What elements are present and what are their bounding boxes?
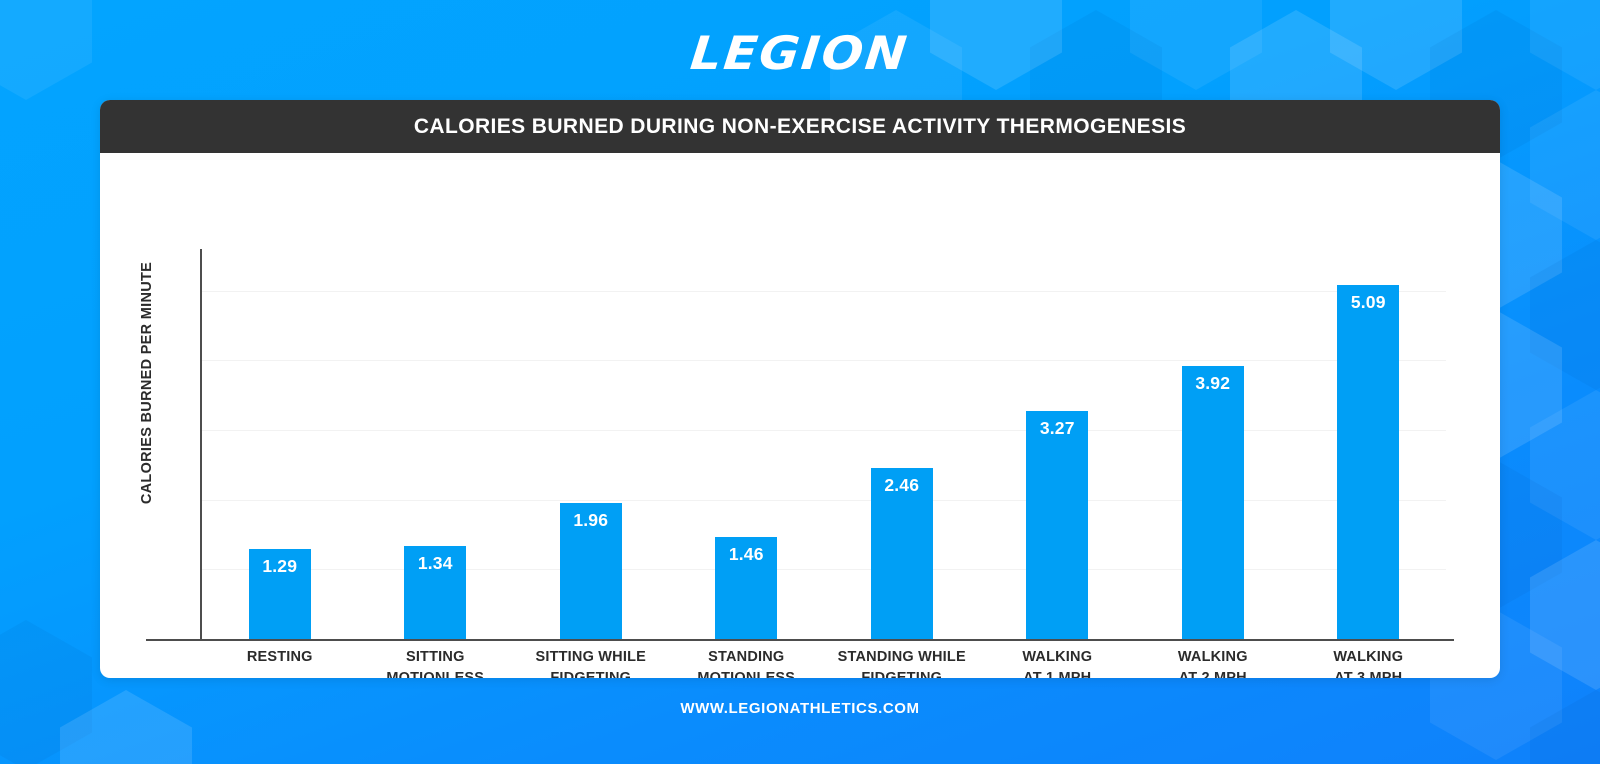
bar[interactable]: 1.46 [715,537,777,639]
footer-url[interactable]: WWW.LEGIONATHLETICS.COM [680,700,919,717]
chart-header-bar: CALORIES BURNED DURING NON-EXERCISE ACTI… [100,100,1500,153]
bar-slot: 1.96 [513,249,669,639]
bar[interactable]: 1.96 [560,503,622,640]
bar-slot: 1.29 [202,249,358,639]
footer: WWW.LEGIONATHLETICS.COM [0,700,1600,718]
bar-slot: 3.92 [1135,249,1291,639]
bar[interactable]: 1.34 [404,546,466,639]
x-axis-line [146,639,1454,641]
bar-value-label: 1.96 [573,510,608,531]
bar-slot: 2.46 [824,249,980,639]
plot-area: 1.291.341.961.462.463.273.925.09 RESTING… [146,153,1454,678]
bar-slot: 3.27 [980,249,1136,639]
bar[interactable]: 2.46 [871,468,933,639]
bar-value-label: 3.27 [1040,418,1075,439]
chart-title: CALORIES BURNED DURING NON-EXERCISE ACTI… [414,115,1186,139]
bar-slot: 1.46 [669,249,825,639]
bar-value-label: 2.46 [884,475,919,496]
bar-value-label: 1.46 [729,544,764,565]
bar-slot: 5.09 [1291,249,1447,639]
bar[interactable]: 3.27 [1026,411,1088,639]
infographic-poster: LEGION CALORIES BURNED DURING NON-EXERCI… [0,0,1600,764]
bar[interactable]: 3.92 [1182,366,1244,639]
chart-card: CALORIES BURNED DURING NON-EXERCISE ACTI… [100,100,1500,678]
bar-value-label: 1.34 [418,553,453,574]
bar-value-label: 1.29 [262,556,297,577]
x-axis-tick-label: RESTING [202,647,358,678]
x-axis-category-labels: RESTINGSITTINGMOTIONLESSSITTING WHILEFID… [202,647,1446,678]
bar-value-label: 5.09 [1351,292,1386,313]
x-axis-tick-label: SITTINGMOTIONLESS [358,647,514,678]
x-axis-tick-label: SITTING WHILEFIDGETING [513,647,669,678]
bar[interactable]: 5.09 [1337,285,1399,639]
bar-value-label: 3.92 [1195,373,1230,394]
bar[interactable]: 1.29 [249,549,311,639]
bar-series: 1.291.341.961.462.463.273.925.09 [202,249,1446,639]
x-axis-tick-label: WALKINGAT 3 MPH [1291,647,1447,678]
logo-text: LEGION [688,26,911,80]
x-axis-tick-label: STANDINGMOTIONLESS [669,647,825,678]
x-axis-tick-label: WALKINGAT 1 MPH [980,647,1136,678]
brand-logo: LEGION [0,26,1600,80]
x-axis-tick-label: STANDING WHILEFIDGETING [824,647,980,678]
chart-body: CALORIES BURNED PER MINUTE 1.291.341.961… [100,153,1500,678]
bar-slot: 1.34 [358,249,514,639]
x-axis-tick-label: WALKINGAT 2 MPH [1135,647,1291,678]
